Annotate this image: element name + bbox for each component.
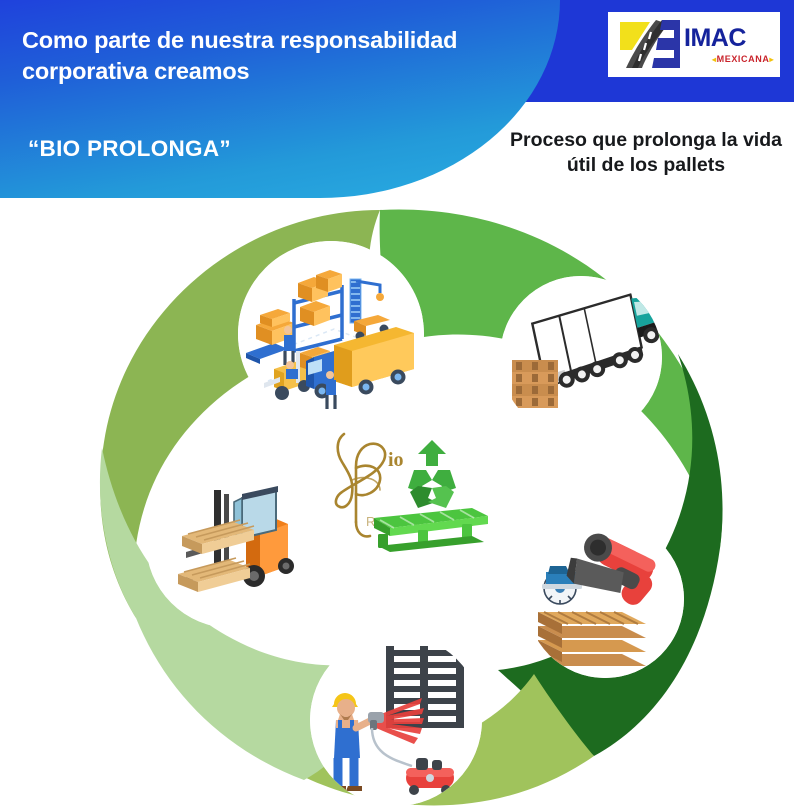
brand-quote-title: “BIO PROLONGA” <box>28 136 231 162</box>
spray-painter-pallet-icon <box>310 634 482 806</box>
node-forklift[interactable] <box>146 456 318 628</box>
node-transport[interactable] <box>500 276 662 438</box>
node-repair[interactable] <box>526 520 684 678</box>
center-brand-logo: io ROLONGA <box>322 418 502 568</box>
logo-tagline-text: MEXICANA <box>717 54 770 64</box>
semi-truck-pallets-icon <box>500 276 662 438</box>
logo-tagline: ◂MEXICANA▸ <box>712 54 774 64</box>
logo-wordmark: IMAC <box>684 24 746 53</box>
bio-io-text: io <box>388 449 404 471</box>
tagline-tick-right-icon: ▸ <box>769 55 774 64</box>
forklift-pallets-icon <box>146 456 318 628</box>
company-logo[interactable]: IMAC ◂MEXICANA▸ <box>608 12 780 77</box>
header-tagline: Proceso que prolonga la vida útil de los… <box>508 128 784 179</box>
recycle-icon <box>408 440 456 508</box>
poster-canvas: Como parte de nuestra responsabilidad co… <box>0 0 794 812</box>
node-paint[interactable] <box>310 634 482 806</box>
warehouse-logistics-icon <box>238 241 424 427</box>
cimac-road-icon <box>616 16 688 74</box>
page-title: Como parte de nuestra responsabilidad co… <box>22 25 532 88</box>
nailgun-saw-pallets-icon <box>526 520 684 678</box>
node-warehouse[interactable] <box>238 241 424 427</box>
